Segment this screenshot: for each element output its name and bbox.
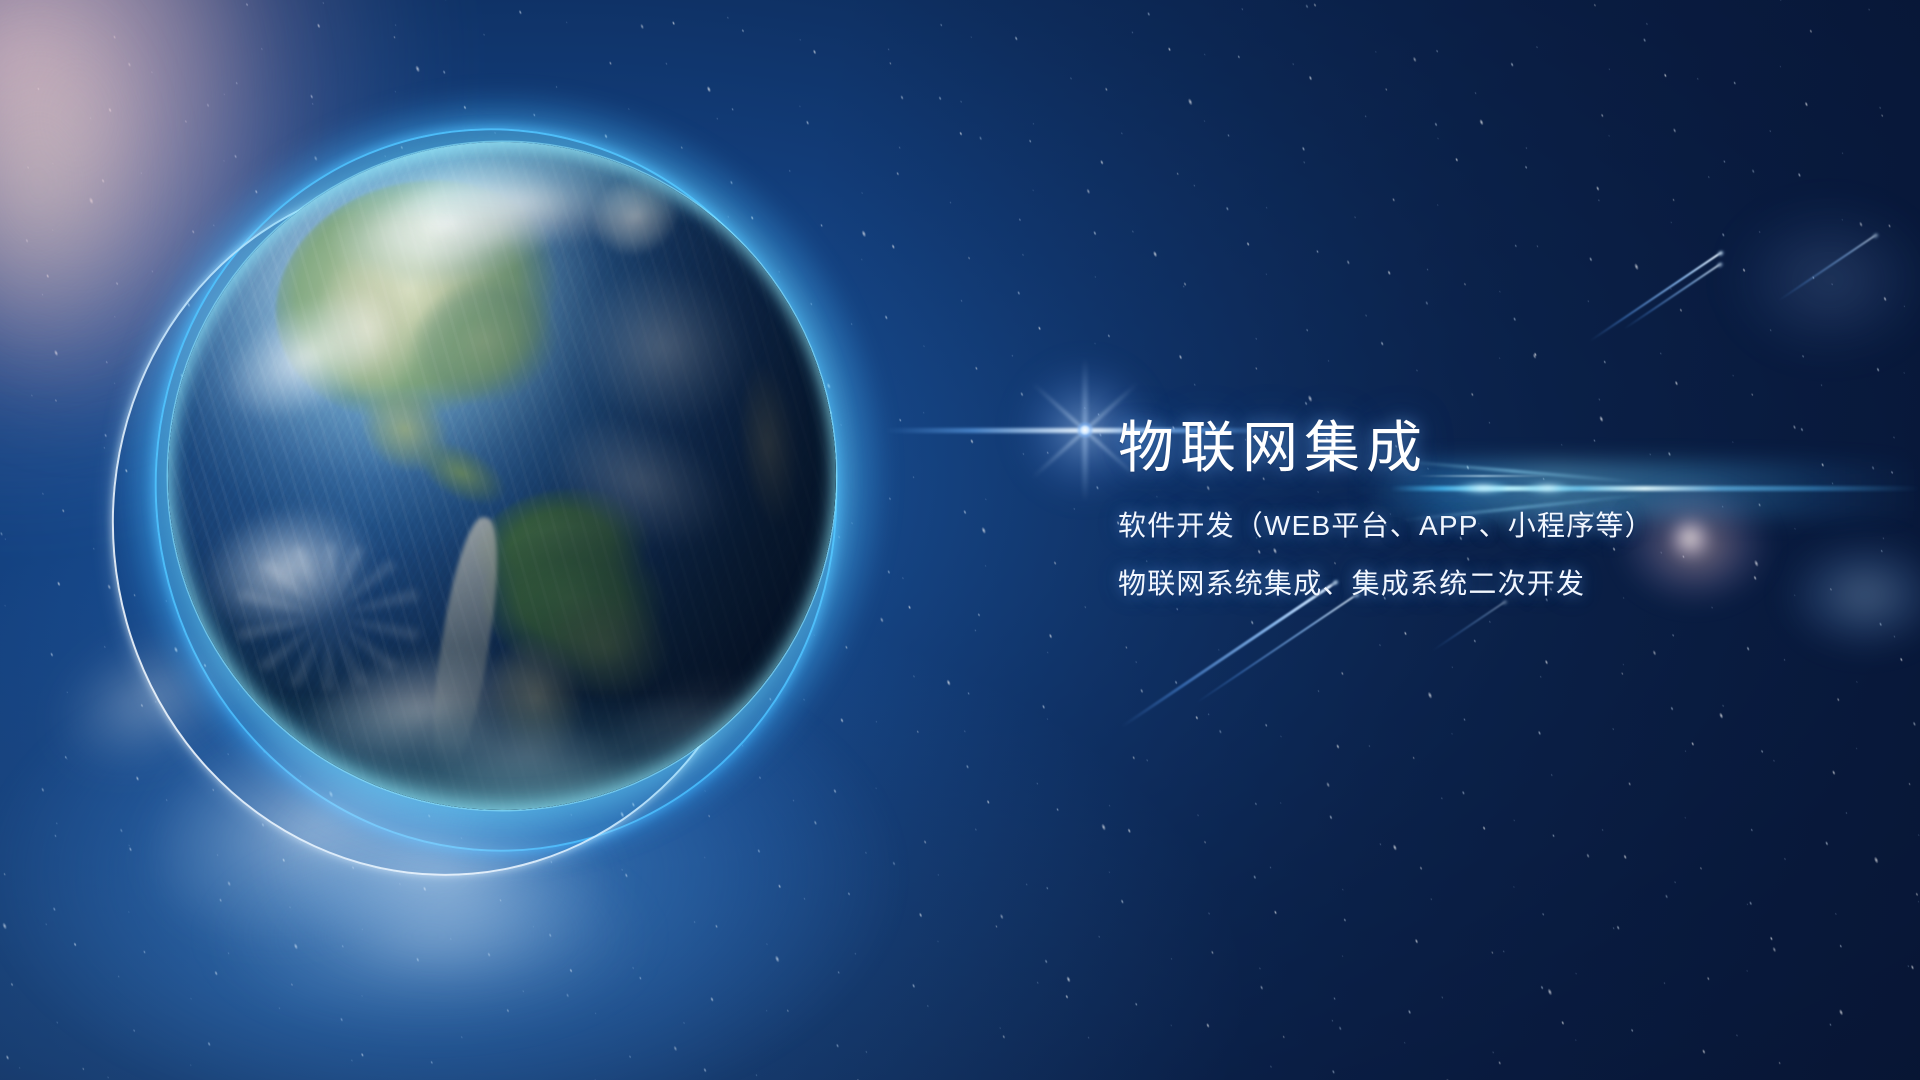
banner-headline: 物联网集成: [1118, 418, 1878, 478]
earth-globe: [168, 142, 836, 810]
rim-light-cool: [168, 142, 836, 810]
banner-copy: 物联网集成 软件开发（WEB平台、APP、小程序等） 物联网系统集成、集成系统二…: [1118, 418, 1878, 598]
banner-subtitle-2: 物联网系统集成、集成系统二次开发: [1118, 570, 1878, 598]
earth-sphere: [168, 142, 836, 810]
banner-subtitle-1: 软件开发（WEB平台、APP、小程序等）: [1118, 512, 1878, 540]
hero-banner: 物联网集成 软件开发（WEB平台、APP、小程序等） 物联网系统集成、集成系统二…: [0, 0, 1920, 1080]
